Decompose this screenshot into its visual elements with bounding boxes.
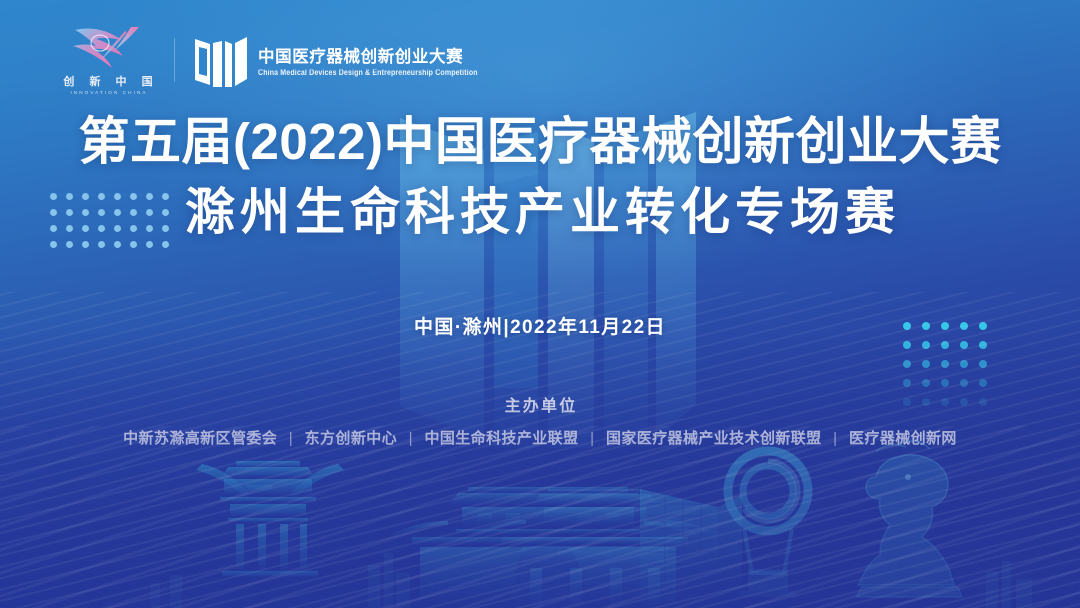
memorial-archway — [470, 489, 720, 608]
host-label: 主办单位 — [0, 392, 1080, 416]
merlion-statue — [856, 441, 962, 597]
host-item: 中新苏滁高新区管委会 — [123, 430, 277, 447]
place-and-date: 中国·滁州|2022年11月22日 — [0, 312, 1080, 339]
diagonal-stripe-texture-secondary — [0, 426, 1080, 608]
headline-block: 第五届(2022)中国医疗器械创新创业大赛 滁州生命科技产业转化专场赛 — [0, 112, 1080, 242]
innovation-logo-en: INNOVATION CHINA — [68, 90, 147, 95]
diagonal-stripe-texture — [0, 292, 1080, 608]
bird-wing-icon — [69, 24, 147, 70]
logo-divider — [174, 38, 175, 82]
city-skyline-illustration — [0, 433, 1080, 608]
innovation-china-logo: 创 新 中 国 INNOVATION CHINA — [62, 24, 154, 95]
modern-skyscraper — [640, 489, 742, 608]
innovation-logo-cn: 创 新 中 国 — [57, 73, 158, 89]
host-separator: | — [826, 430, 844, 447]
page-title: 第五届(2022)中国医疗器械创新创业大赛 — [0, 112, 1080, 172]
host-separator: | — [583, 430, 601, 447]
city-gate-tower — [392, 487, 700, 608]
competition-logo-cn: 中国医疗器械创新创业大赛 — [258, 43, 478, 67]
chinese-pavilion-archway — [196, 461, 344, 577]
bottom-fade-overlay — [0, 328, 1080, 608]
door-gate-icon — [195, 33, 247, 87]
host-separator: | — [402, 430, 420, 447]
small-skyline-buildings — [150, 553, 1032, 608]
host-item: 中国生命科技产业联盟 — [424, 430, 578, 447]
event-poster: 创 新 中 国 INNOVATION CHINA 中国医疗器械创新创业大赛 Ch… — [0, 0, 1080, 608]
competition-logo: 中国医疗器械创新创业大赛 China Medical Devices Desig… — [195, 33, 478, 87]
host-item: 国家医疗器械产业技术创新联盟 — [606, 430, 822, 447]
logo-bar: 创 新 中 国 INNOVATION CHINA 中国医疗器械创新创业大赛 Ch… — [62, 24, 478, 95]
host-list: 中新苏滁高新区管委会 | 东方创新中心 | 中国生命科技产业联盟 | 国家医疗器… — [0, 427, 1080, 448]
host-item: 医疗器械创新网 — [849, 430, 957, 447]
page-subtitle: 滁州生命科技产业转化专场赛 — [0, 183, 1080, 242]
competition-logo-en: China Medical Devices Design & Entrepren… — [258, 69, 478, 77]
circular-sculpture — [728, 451, 808, 597]
host-separator: | — [282, 430, 300, 447]
host-item: 东方创新中心 — [305, 430, 397, 447]
